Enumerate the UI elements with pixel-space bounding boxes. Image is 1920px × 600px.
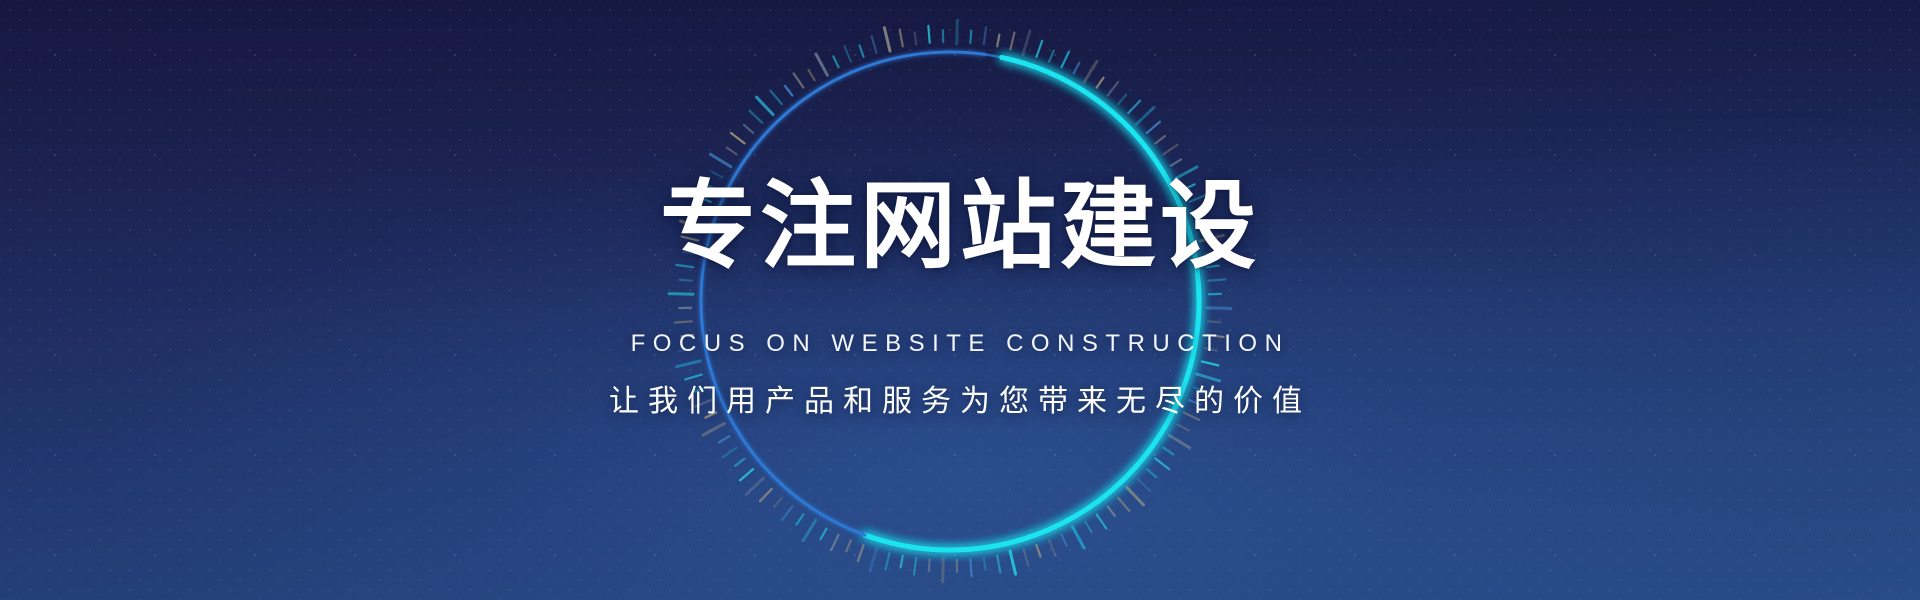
tech-circle-graphic bbox=[0, 0, 1920, 600]
cyan-glow-arc bbox=[865, 57, 1199, 550]
subtitle-english: FOCUS ON WEBSITE CONSTRUCTION bbox=[0, 330, 1920, 358]
dot-grid-texture bbox=[0, 0, 1920, 600]
dot-grid-accent-texture bbox=[0, 0, 1920, 600]
circle-ring-base bbox=[701, 52, 1199, 550]
hero-banner: 专注网站建设 FOCUS ON WEBSITE CONSTRUCTION 让我们… bbox=[0, 0, 1920, 600]
radial-tick-marks bbox=[669, 20, 1231, 582]
subtitle-chinese: 让我们用产品和服务为您带来无尽的价值 bbox=[0, 376, 1920, 420]
blue-arc-segment bbox=[701, 52, 985, 535]
lower-glow-overlay bbox=[110, 158, 1810, 600]
top-shade-overlay bbox=[0, 0, 1920, 320]
page-title: 专注网站建设 bbox=[0, 176, 1920, 277]
skyline-silhouette bbox=[600, 138, 1320, 248]
